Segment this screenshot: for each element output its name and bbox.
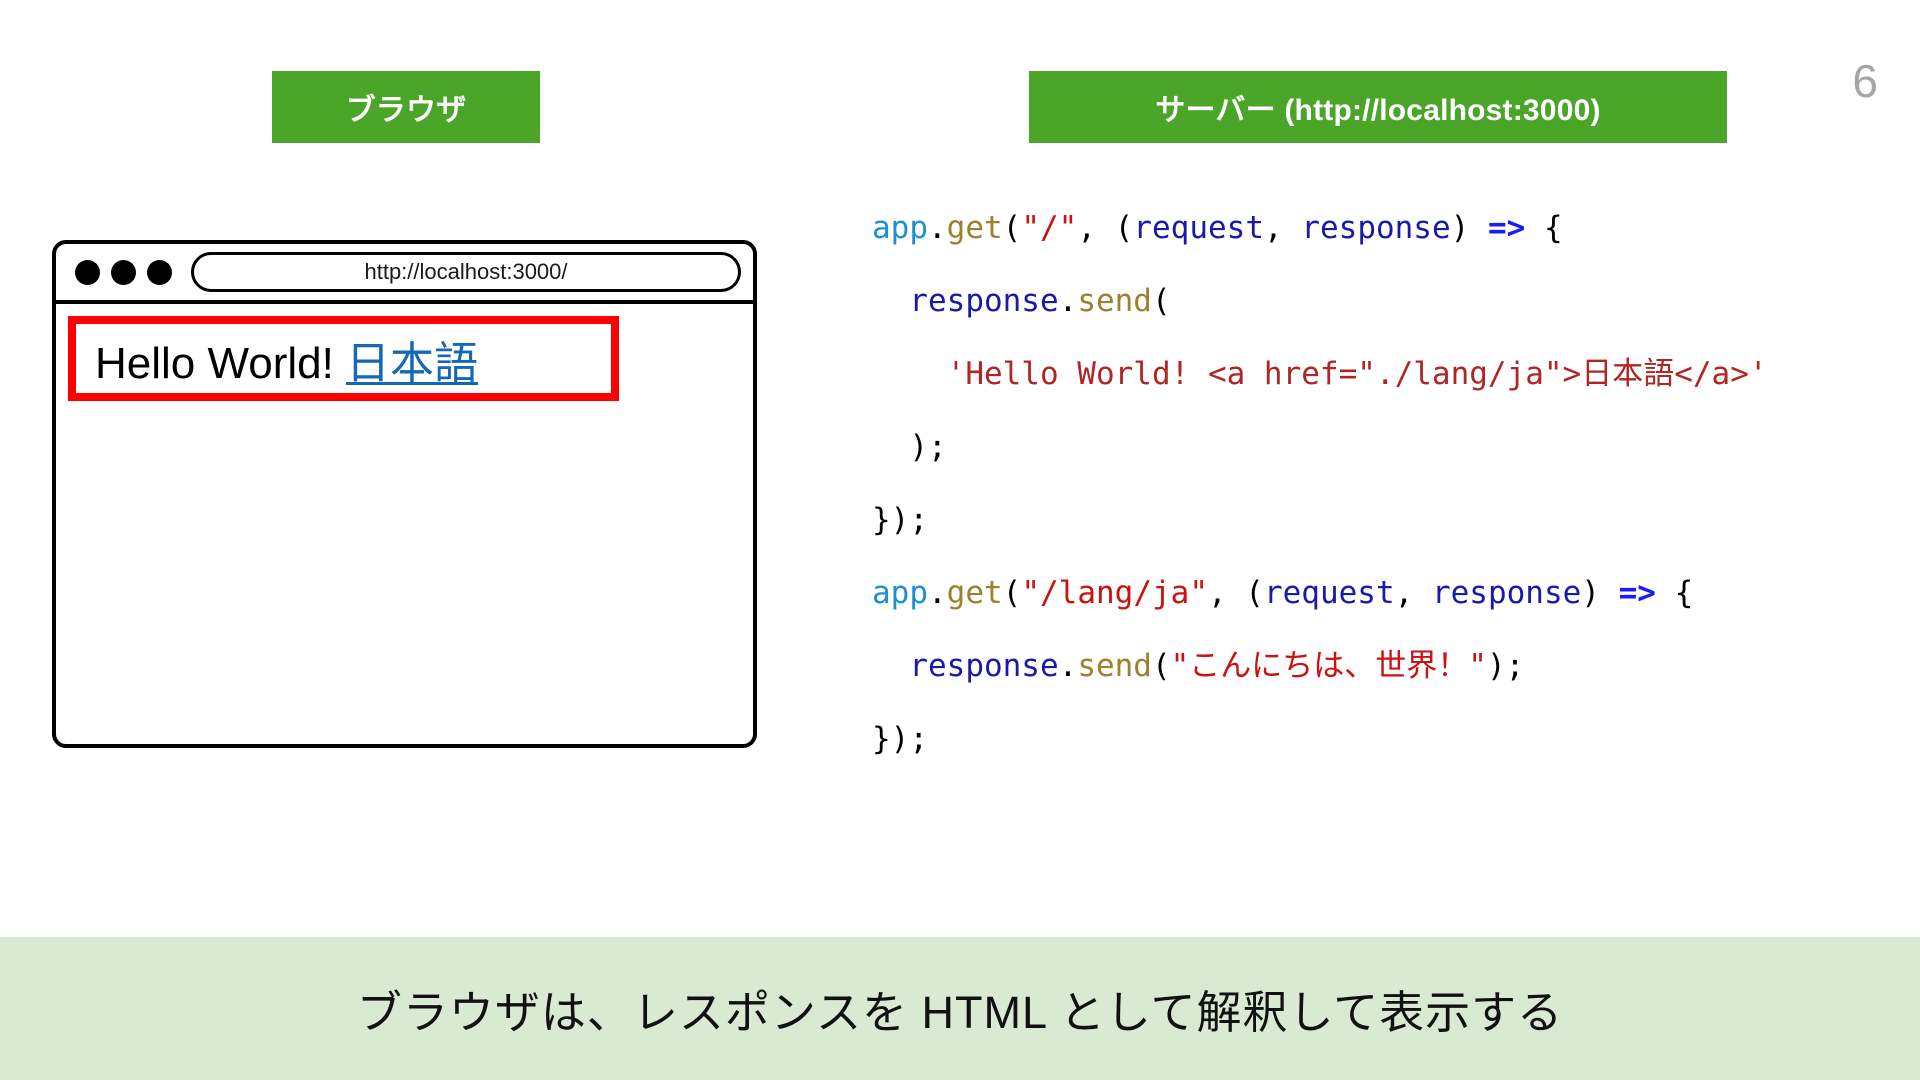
code-token: , xyxy=(1264,210,1301,246)
browser-titlebar: http://localhost:3000/ xyxy=(56,244,753,304)
code-token: response xyxy=(909,283,1058,319)
code-token: app xyxy=(872,210,928,246)
code-token: , ( xyxy=(1208,575,1264,611)
window-close-dot-icon[interactable] xyxy=(75,260,100,285)
code-token: response xyxy=(909,648,1058,684)
server-code-block: app.get("/", (request, response) => { re… xyxy=(872,192,1768,776)
code-token: response xyxy=(1301,210,1450,246)
code-line: response.send("こんにちは、世界！"); xyxy=(872,630,1768,703)
code-token: , xyxy=(1395,575,1432,611)
code-token: 'Hello World! <a href="./lang/ja">日本語</a… xyxy=(947,356,1768,392)
code-line: app.get("/", (request, response) => { xyxy=(872,192,1768,265)
code-line: }); xyxy=(872,703,1768,776)
code-token: app xyxy=(872,575,928,611)
badge-browser-label: ブラウザ xyxy=(346,85,467,129)
code-token: { xyxy=(1525,210,1562,246)
rendered-page-link[interactable]: 日本語 xyxy=(346,339,478,388)
code-token: send xyxy=(1077,283,1152,319)
badge-server-label: サーバー (http://localhost:3000) xyxy=(1155,85,1600,129)
badge-browser: ブラウザ xyxy=(272,71,540,143)
caption-band: ブラウザは、レスポンスを HTML として解釈して表示する xyxy=(0,937,1920,1080)
code-token: . xyxy=(1059,283,1078,319)
rendered-page-text: Hello World! 日本語 xyxy=(95,327,478,391)
code-line: 'Hello World! <a href="./lang/ja">日本語</a… xyxy=(872,338,1768,411)
code-indent xyxy=(872,429,909,465)
address-bar-url: http://localhost:3000/ xyxy=(364,259,567,285)
rendered-output-highlight: Hello World! 日本語 xyxy=(68,316,619,401)
window-maximize-dot-icon[interactable] xyxy=(147,260,172,285)
code-token: ) xyxy=(1581,575,1618,611)
code-indent xyxy=(872,356,947,392)
code-token: }); xyxy=(872,502,928,538)
code-token: }); xyxy=(872,721,928,757)
code-token: "こんにちは、世界！" xyxy=(1171,648,1487,684)
code-token: get xyxy=(947,210,1003,246)
code-line: ); xyxy=(872,411,1768,484)
code-line: response.send( xyxy=(872,265,1768,338)
code-token: request xyxy=(1264,575,1395,611)
code-token: ); xyxy=(909,429,946,465)
code-token: , ( xyxy=(1077,210,1133,246)
code-token: get xyxy=(947,575,1003,611)
caption-text: ブラウザは、レスポンスを HTML として解釈して表示する xyxy=(357,976,1563,1041)
code-token: ( xyxy=(1003,575,1022,611)
code-line: }); xyxy=(872,484,1768,557)
code-token: ) xyxy=(1451,210,1488,246)
code-token: request xyxy=(1133,210,1264,246)
code-token: . xyxy=(1059,648,1078,684)
window-controls xyxy=(75,260,172,285)
code-token: "/lang/ja" xyxy=(1021,575,1208,611)
code-token: . xyxy=(928,210,947,246)
code-token: ( xyxy=(1152,648,1171,684)
code-token: . xyxy=(928,575,947,611)
code-token: { xyxy=(1656,575,1693,611)
code-token: "/" xyxy=(1021,210,1077,246)
code-indent xyxy=(872,283,909,319)
code-token: ); xyxy=(1487,648,1524,684)
code-token: ( xyxy=(1152,283,1171,319)
page-number: 6 xyxy=(1852,58,1878,104)
code-token: send xyxy=(1077,648,1152,684)
browser-viewport: Hello World! 日本語 xyxy=(56,304,753,744)
address-bar[interactable]: http://localhost:3000/ xyxy=(191,252,741,292)
window-minimize-dot-icon[interactable] xyxy=(111,260,136,285)
badge-server: サーバー (http://localhost:3000) xyxy=(1029,71,1727,143)
code-token: response xyxy=(1432,575,1581,611)
code-line: app.get("/lang/ja", (request, response) … xyxy=(872,557,1768,630)
code-indent xyxy=(872,648,909,684)
code-token: => xyxy=(1619,575,1656,611)
code-token: ( xyxy=(1003,210,1022,246)
code-token: => xyxy=(1488,210,1525,246)
rendered-text-plain: Hello World! xyxy=(95,339,346,388)
browser-mockup-window: http://localhost:3000/ Hello World! 日本語 xyxy=(52,240,757,748)
